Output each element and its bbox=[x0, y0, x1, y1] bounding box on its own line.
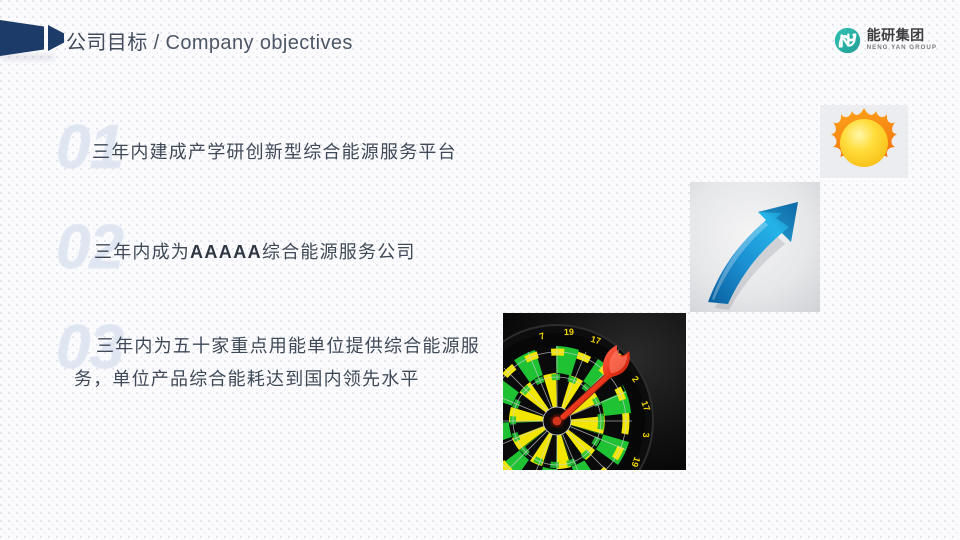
objective-item-03: 03 三年内为五十家重点用能单位提供综合能源服务，单位产品综合能耗达到国内领先水… bbox=[0, 318, 560, 438]
svg-text:19: 19 bbox=[564, 327, 574, 337]
sun-illustration-icon bbox=[820, 105, 908, 178]
page-title: 公司目标 / Company objectives bbox=[66, 26, 353, 55]
sun-photo bbox=[820, 105, 908, 178]
objective-text-03: 三年内为五十家重点用能单位提供综合能源服务，单位产品综合能耗达到国内领先水平 bbox=[74, 330, 494, 396]
ribbon-chevron-icon bbox=[48, 25, 64, 51]
objective-text-02: 三年内成为AAAAA综合能源服务公司 bbox=[94, 236, 494, 269]
page-title-separator: / bbox=[148, 32, 166, 54]
objectives-list: 01 三年内建成产学研创新型综合能源服务平台 02 三年内成为AAAAA综合能源… bbox=[0, 118, 560, 438]
svg-text:3: 3 bbox=[641, 432, 651, 437]
objective-item-01: 01 三年内建成产学研创新型综合能源服务平台 bbox=[0, 118, 560, 218]
dartboard-photo: 7 19 17 3 2 17 3 19 7 bbox=[503, 313, 686, 470]
company-logo: 能研集团 NENG YAN GROUP bbox=[834, 22, 937, 58]
header-ribbon-decoration bbox=[0, 20, 62, 56]
logo-name-cn: 能研集团 bbox=[867, 28, 937, 42]
growth-arrow-photo bbox=[690, 182, 820, 312]
objective-text-02-after: 综合能源服务公司 bbox=[262, 242, 416, 262]
objective-text-01: 三年内建成产学研创新型综合能源服务平台 bbox=[92, 136, 492, 169]
objective-item-02: 02 三年内成为AAAAA综合能源服务公司 bbox=[0, 218, 560, 318]
page-title-en: Company objectives bbox=[165, 32, 352, 54]
page-title-cn: 公司目标 bbox=[66, 32, 148, 54]
logo-name-en: NENG YAN GROUP bbox=[867, 45, 937, 51]
ribbon-main-bar bbox=[0, 20, 44, 56]
upward-arrow-icon bbox=[690, 182, 820, 312]
dartboard-icon: 7 19 17 3 2 17 3 19 7 bbox=[503, 313, 686, 470]
objective-text-02-before: 三年内成为 bbox=[94, 242, 190, 262]
ribbon-shadow bbox=[2, 55, 54, 62]
slide-canvas: 公司目标 / Company objectives 能研集团 NENG YAN … bbox=[0, 0, 960, 540]
nengyan-emblem-icon bbox=[834, 27, 861, 54]
logo-text-block: 能研集团 NENG YAN GROUP bbox=[867, 28, 937, 51]
objective-text-02-emphasis: AAAAA bbox=[190, 242, 262, 262]
slide-header: 公司目标 / Company objectives 能研集团 NENG YAN … bbox=[0, 0, 960, 78]
